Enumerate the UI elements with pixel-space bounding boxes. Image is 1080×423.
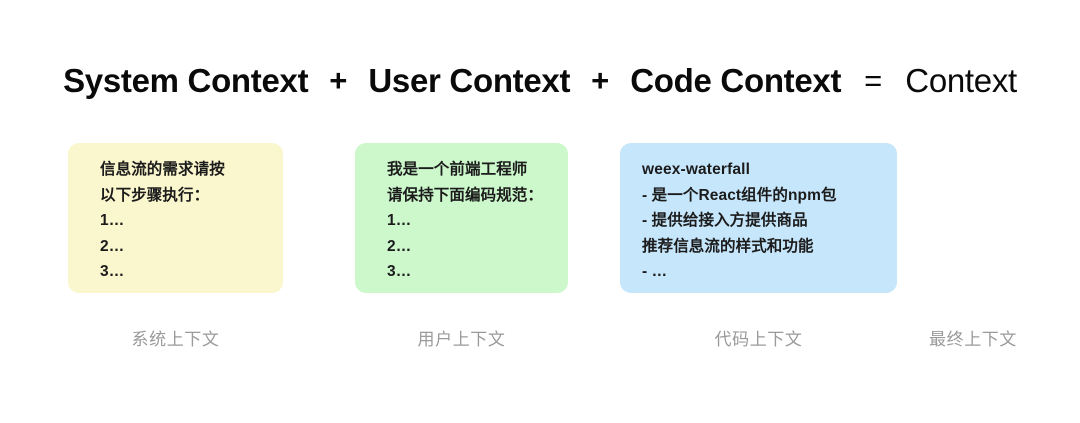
caption-final-context: 最终上下文: [888, 325, 1058, 350]
card-code-line-2: - 是一个React组件的npm包: [642, 183, 897, 209]
card-user-line-1: 我是一个前端工程师: [387, 157, 568, 183]
formula-term-code-context: Code Context: [630, 62, 841, 100]
formula-term-user-context: User Context: [368, 62, 570, 100]
card-code-line-1: weex-waterfall: [642, 157, 897, 183]
card-user-line-2: 请保持下面编码规范：: [387, 183, 568, 209]
formula-operator-plus-2: +: [570, 63, 630, 99]
card-code-line-4: 推荐信息流的样式和功能: [642, 234, 897, 260]
caption-system-context: 系统上下文: [68, 325, 283, 350]
caption-code-context: 代码上下文: [620, 325, 897, 350]
formula-operator-equals: =: [841, 63, 905, 99]
card-code-line-3: - 提供给接入方提供商品: [642, 208, 897, 234]
card-system-line-1: 信息流的需求请按: [100, 157, 283, 183]
context-formula: System Context + User Context + Code Con…: [0, 62, 1080, 100]
card-code-context: weex-waterfall - 是一个React组件的npm包 - 提供给接入…: [620, 143, 897, 293]
card-system-context: 信息流的需求请按 以下步骤执行： 1… 2… 3…: [68, 143, 283, 293]
card-user-line-3: 1…: [387, 208, 568, 234]
card-system-line-5: 3…: [100, 259, 283, 285]
card-user-line-5: 3…: [387, 259, 568, 285]
diagram-canvas: System Context + User Context + Code Con…: [0, 0, 1080, 423]
formula-term-context: Context: [905, 62, 1017, 100]
card-system-line-2: 以下步骤执行：: [100, 183, 283, 209]
formula-operator-plus-1: +: [308, 63, 368, 99]
context-captions: 系统上下文 用户上下文 代码上下文 最终上下文: [0, 325, 1080, 355]
caption-user-context: 用户上下文: [355, 325, 568, 350]
card-user-context: 我是一个前端工程师 请保持下面编码规范： 1… 2… 3…: [355, 143, 568, 293]
context-cards: 信息流的需求请按 以下步骤执行： 1… 2… 3… 我是一个前端工程师 请保持下…: [0, 143, 1080, 295]
card-system-line-3: 1…: [100, 208, 283, 234]
card-system-line-4: 2…: [100, 234, 283, 260]
formula-term-system-context: System Context: [63, 62, 308, 100]
card-code-line-5: - …: [642, 259, 897, 285]
card-user-line-4: 2…: [387, 234, 568, 260]
